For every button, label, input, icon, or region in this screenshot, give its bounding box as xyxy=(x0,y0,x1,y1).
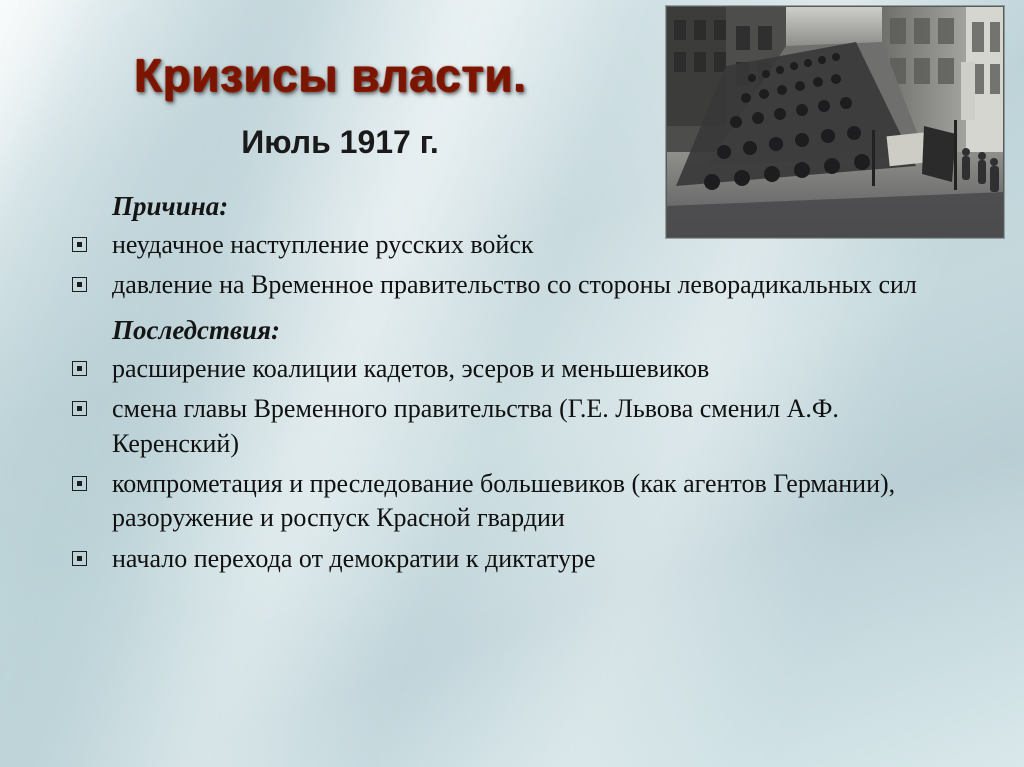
list-item: неудачное наступление русских войск xyxy=(66,228,966,262)
square-bullet-icon xyxy=(66,268,112,292)
square-bullet-icon xyxy=(66,228,112,252)
list-item: компрометация и преследование большевико… xyxy=(66,467,966,536)
presentation-slide: Кризисы власти. Июль 1917 г. xyxy=(0,0,1024,767)
slide-body: Причина: неудачное наступление русских в… xyxy=(66,190,966,582)
list-item: начало перехода от демократии к диктатур… xyxy=(66,542,966,576)
section-heading-consequences: Последствия: xyxy=(112,314,966,348)
list-item: смена главы Временного правительства (Г.… xyxy=(66,392,966,461)
square-bullet-icon xyxy=(66,352,112,376)
square-bullet-icon xyxy=(66,542,112,566)
slide-title: Кризисы власти. xyxy=(0,48,660,102)
list-item-text: неудачное наступление русских войск xyxy=(112,228,534,262)
list-item: давление на Временное правительство со с… xyxy=(66,268,966,302)
list-item-text: компрометация и преследование большевико… xyxy=(112,467,942,536)
list-item-text: давление на Временное правительство со с… xyxy=(112,268,917,302)
list-item-text: расширение коалиции кадетов, эсеров и ме… xyxy=(112,352,709,386)
list-item-text: смена главы Временного правительства (Г.… xyxy=(112,392,942,461)
slide-subtitle: Июль 1917 г. xyxy=(0,124,680,161)
list-item-text: начало перехода от демократии к диктатур… xyxy=(112,542,596,576)
section-heading-cause: Причина: xyxy=(112,190,966,224)
list-item: расширение коалиции кадетов, эсеров и ме… xyxy=(66,352,966,386)
square-bullet-icon xyxy=(66,467,112,491)
square-bullet-icon xyxy=(66,392,112,416)
